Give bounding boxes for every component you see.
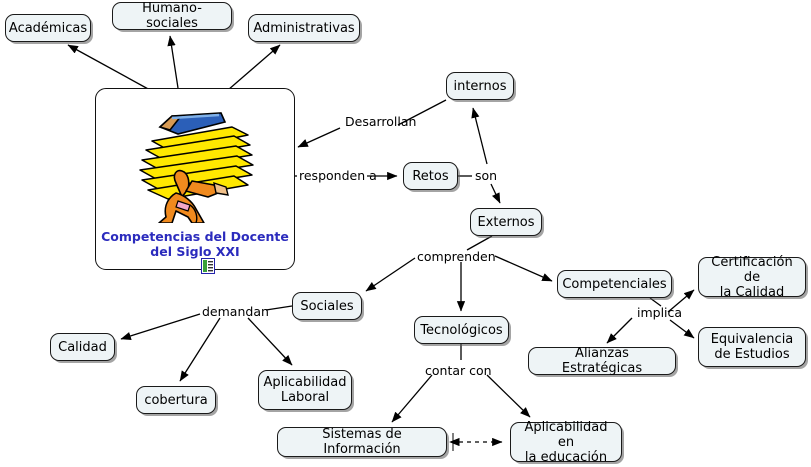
- link-label-son: son: [475, 169, 497, 183]
- node-competenciales[interactable]: Competenciales: [557, 270, 672, 298]
- link-label-desarrollan: Desarrollan: [345, 115, 416, 129]
- edge-implica-to-alianzas: [607, 318, 632, 343]
- link-label-contar-con: contar con: [425, 364, 492, 378]
- link-label-demandan: demandan: [202, 305, 269, 319]
- node-equivalencia-estudios[interactable]: Equivalencia de Estudios: [698, 327, 806, 367]
- teacher-carrying-papers-clipart: [126, 105, 266, 223]
- node-aplicabilidad-educacion[interactable]: Aplicabilidad en la educación: [510, 422, 622, 462]
- edge-comprenden-to-competenciales: [495, 256, 552, 281]
- node-humano-sociales[interactable]: Humano-sociales: [112, 2, 232, 30]
- node-internos[interactable]: internos: [446, 72, 514, 100]
- node-tecnologicos[interactable]: Tecnológicos: [414, 316, 509, 344]
- node-certificacion-calidad[interactable]: Certificación de la Calidad: [698, 257, 806, 297]
- main-concept-image-box[interactable]: Competencias del Docente del Siglo XXI: [95, 88, 295, 270]
- edge-externos-to-comprenden: [467, 236, 492, 250]
- edge-son-to-externos: [491, 184, 500, 203]
- link-label-comprenden: comprenden: [417, 250, 496, 264]
- node-aplicabilidad-laboral[interactable]: Aplicabilidad Laboral: [258, 370, 352, 410]
- edge-sociales-to-demandan: [266, 306, 292, 310]
- node-retos[interactable]: Retos: [403, 162, 458, 190]
- node-sistemas-informacion[interactable]: Sistemas de Información: [277, 427, 447, 457]
- node-alianzas-estrategicas[interactable]: Alianzas Estratégicas: [528, 347, 676, 375]
- node-externos[interactable]: Externos: [470, 208, 542, 236]
- concept-map-canvas: Competencias del Docente del Siglo XXI A…: [0, 0, 811, 467]
- edge-demandan-to-aplicabilidad-laboral: [248, 318, 292, 365]
- edge-contar-con-to-aplicabilidad-educacion: [487, 375, 530, 417]
- link-label-implica: implica: [637, 306, 682, 320]
- edge-mainbox-to-humano-sociales: [170, 36, 178, 88]
- edge-contar-con-to-sistemas: [392, 375, 432, 422]
- edge-mainbox-to-academicas: [68, 45, 150, 90]
- node-sociales[interactable]: Sociales: [292, 292, 362, 320]
- edge-desarrollan-arrow: [298, 128, 340, 147]
- node-calidad[interactable]: Calidad: [50, 333, 115, 361]
- link-label-responden-a: responden a: [299, 169, 377, 183]
- edge-demandan-to-cobertura: [180, 318, 220, 381]
- edge-mainbox-to-administrativas: [228, 45, 280, 90]
- main-concept-caption: Competencias del Docente del Siglo XXI: [96, 229, 294, 259]
- edge-demandan-to-calidad: [121, 314, 200, 339]
- edge-son-to-internos: [473, 108, 487, 164]
- edge-comprenden-to-sociales: [366, 258, 415, 291]
- node-academicas[interactable]: Académicas: [5, 14, 91, 42]
- node-cobertura[interactable]: cobertura: [136, 386, 216, 414]
- document-list-icon[interactable]: [201, 258, 215, 274]
- node-administrativas[interactable]: Administrativas: [248, 14, 360, 42]
- edge-implica-to-equivalencia: [670, 320, 694, 338]
